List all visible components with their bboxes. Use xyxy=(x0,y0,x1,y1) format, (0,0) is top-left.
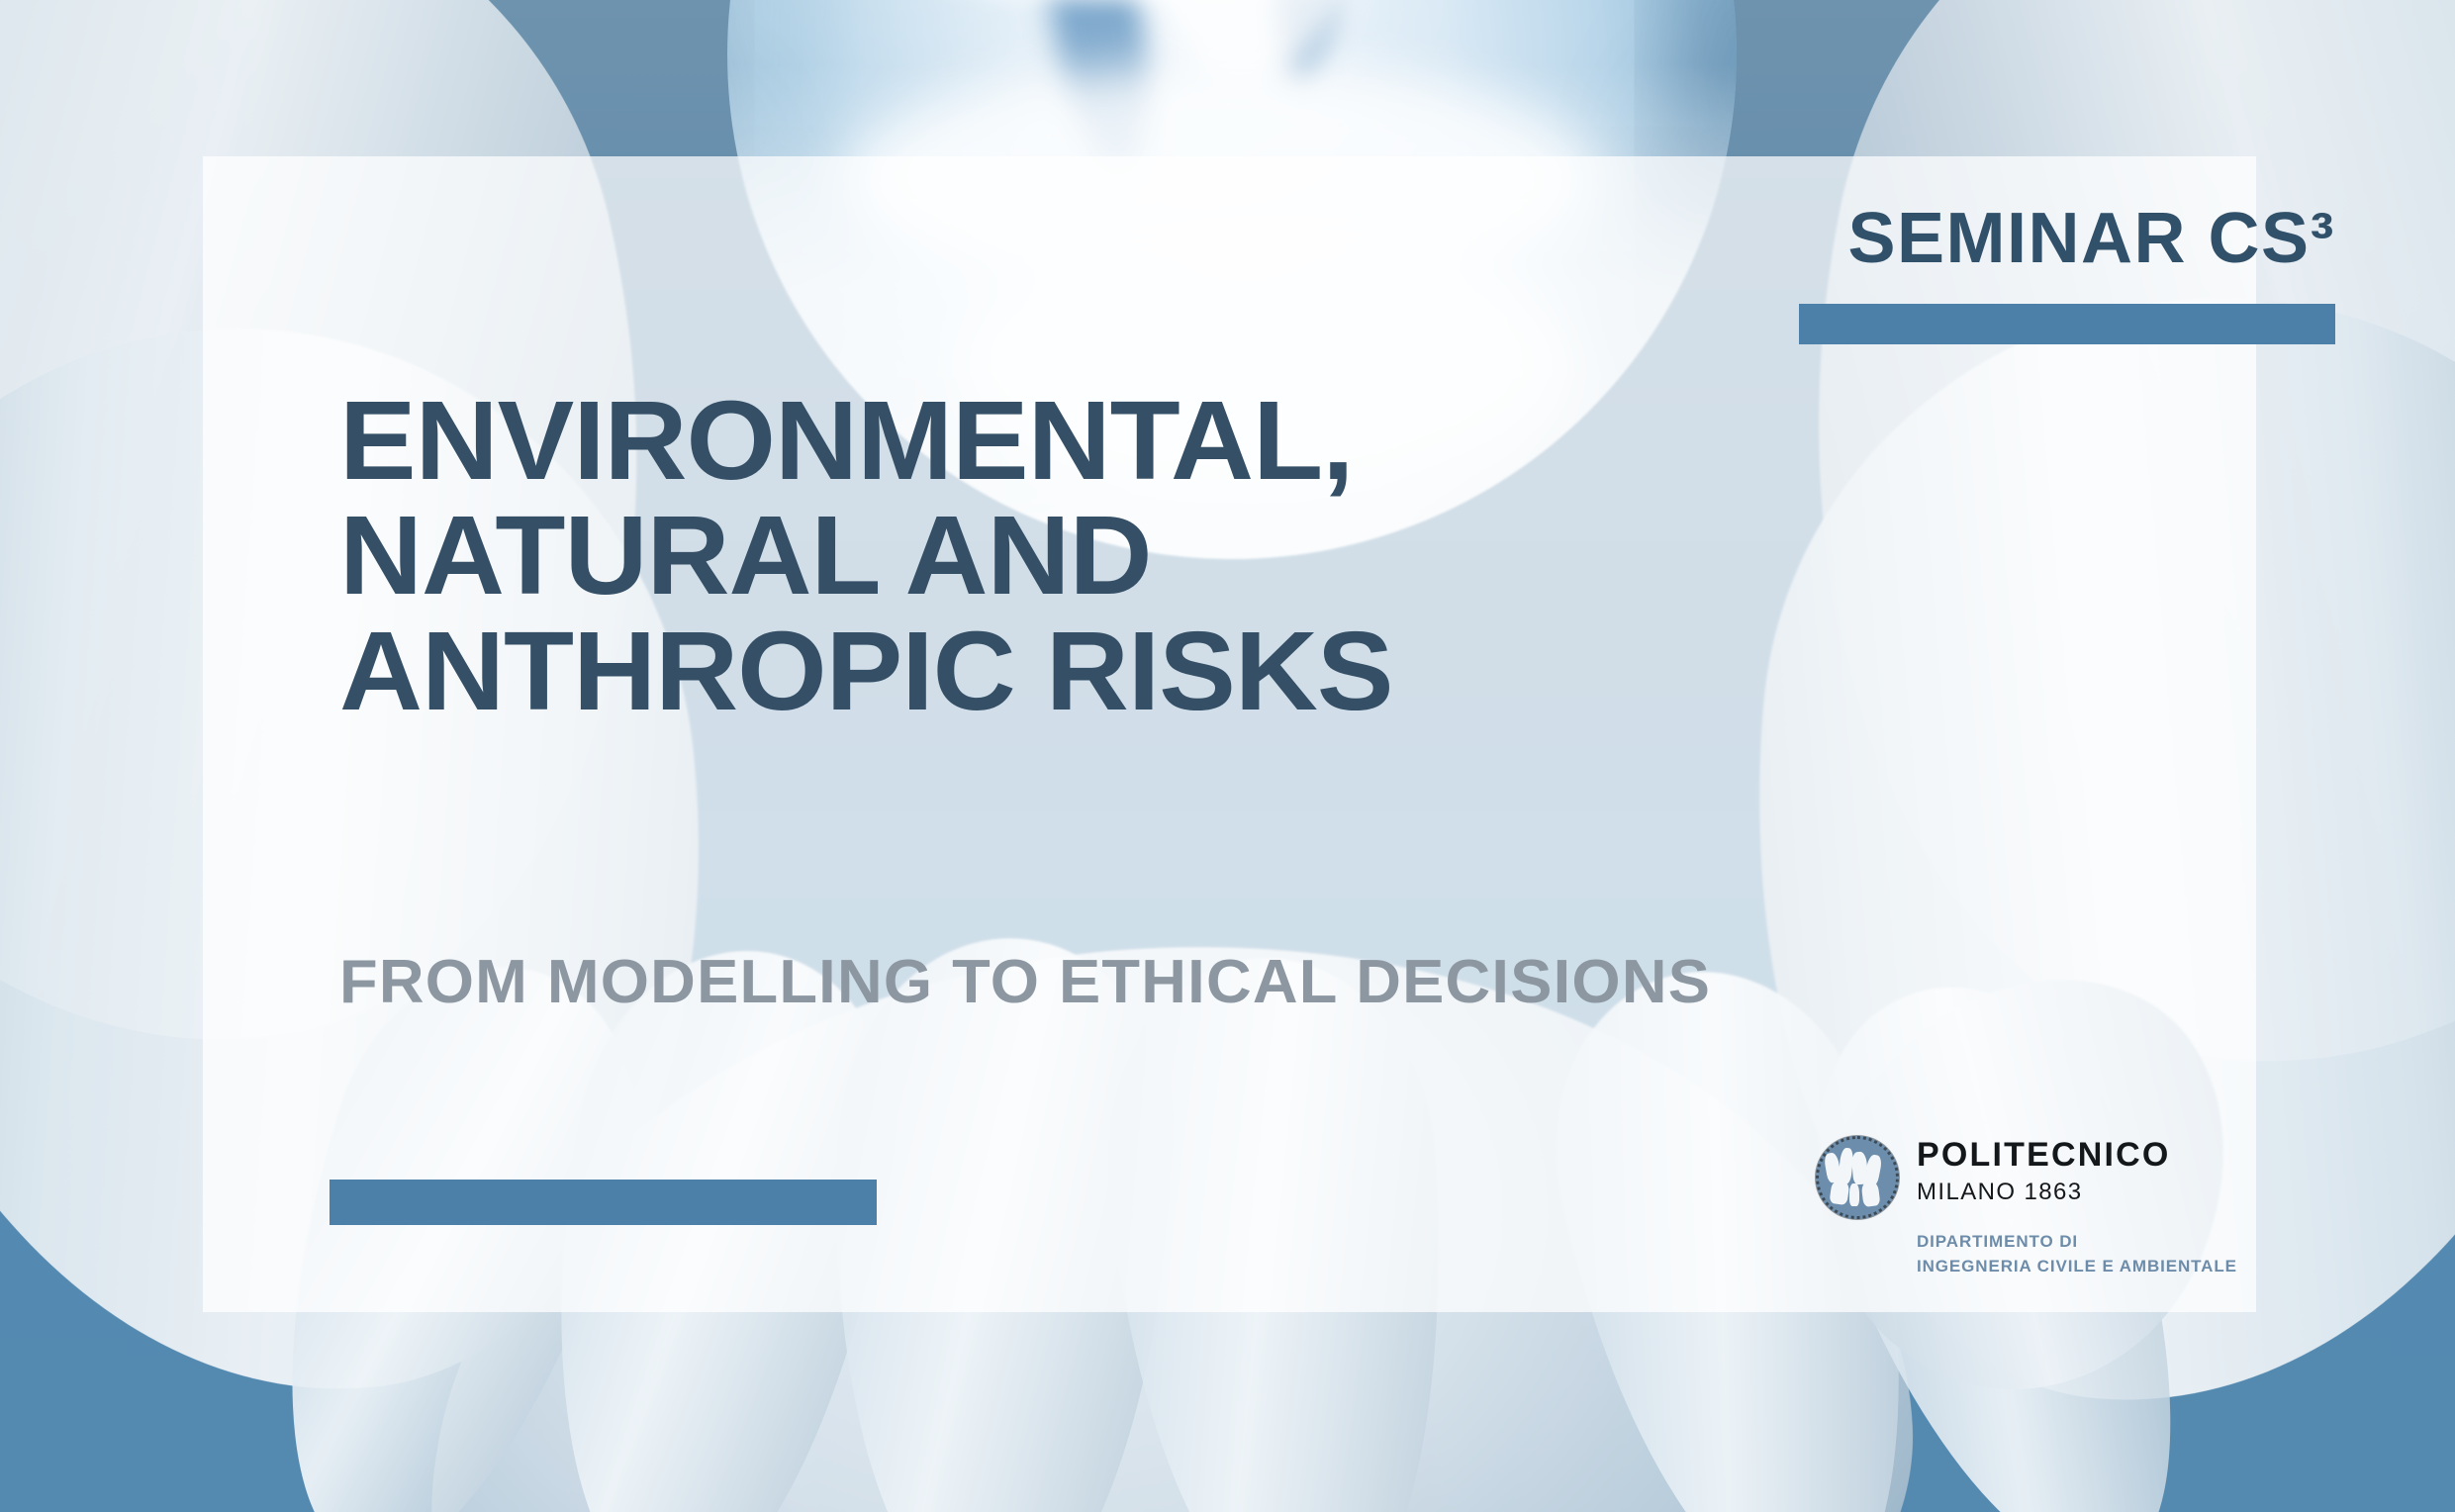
kicker-accent-bar xyxy=(1799,304,2335,344)
logo-department-label: DIPARTIMENTO DI INGEGNERIA CIVILE E AMBI… xyxy=(1917,1230,2237,1278)
logo-milano-label: MILANO 1863 xyxy=(1917,1181,2237,1204)
bottom-accent-bar xyxy=(330,1180,877,1225)
seal-figures xyxy=(1819,1139,1896,1216)
department-line-2: INGEGNERIA CIVILE E AMBIENTALE xyxy=(1917,1255,2237,1279)
title-line-2: NATURAL AND xyxy=(339,498,1392,613)
politecnico-seal-icon xyxy=(1816,1136,1899,1219)
logo-politecnico-label: POLITECNICO xyxy=(1917,1138,2237,1172)
page-title: ENVIRONMENTAL, NATURAL AND ANTHROPIC RIS… xyxy=(339,383,1362,728)
seminar-kicker-label: SEMINAR CS³ xyxy=(1799,203,2335,274)
title-line-3: ANTHROPIC RISKS xyxy=(339,614,1392,728)
seminar-poster: SEMINAR CS³ ENVIRONMENTAL, NATURAL AND A… xyxy=(0,0,2455,1512)
politecnico-logo: POLITECNICO MILANO 1863 DIPARTIMENTO DI … xyxy=(1816,1136,2237,1278)
department-line-1: DIPARTIMENTO DI xyxy=(1917,1230,2237,1255)
logo-wordmark: POLITECNICO MILANO 1863 DIPARTIMENTO DI … xyxy=(1917,1136,2237,1278)
page-subtitle: FROM MODELLING TO ETHICAL DECISIONS xyxy=(339,952,1711,1013)
seminar-kicker: SEMINAR CS³ xyxy=(1799,203,2335,344)
title-line-1: ENVIRONMENTAL, xyxy=(339,383,1392,498)
